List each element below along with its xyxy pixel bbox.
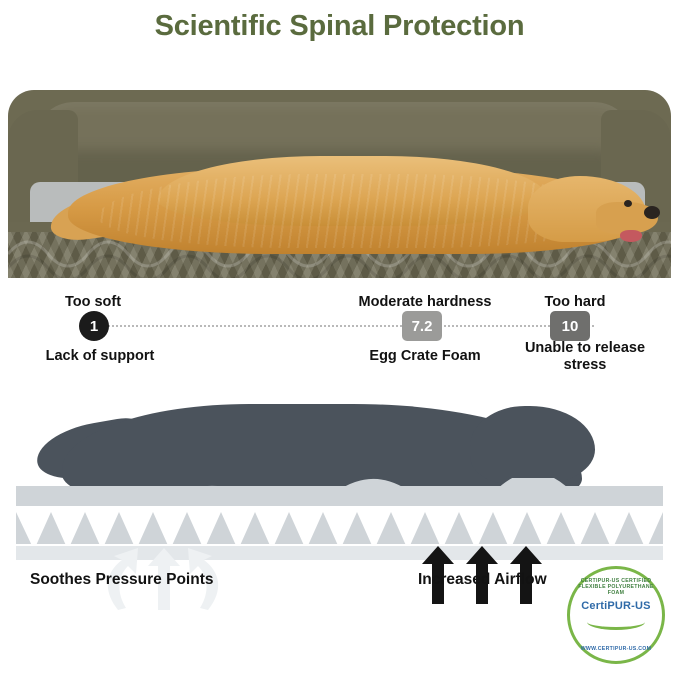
- scale-value-7-2: 7.2: [402, 311, 442, 341]
- scale-value-1: 1: [79, 311, 109, 341]
- product-photo: [0, 46, 679, 278]
- scale-line: [84, 325, 594, 327]
- certipur-us-badge: CERTIPUR-US CERTIFIED FLEXIBLE POLYURETH…: [567, 566, 665, 664]
- certipur-swoosh-icon: [587, 614, 645, 630]
- certipur-arc-bottom-text: WWW.CERTIPUR-US.COM: [570, 646, 662, 652]
- scale-label-lack-support: Lack of support: [10, 348, 190, 365]
- scale-label-egg-crate-foam: Egg Crate Foam: [330, 348, 520, 365]
- scale-value-10: 10: [550, 311, 590, 341]
- scale-label-too-soft: Too soft: [28, 294, 158, 311]
- scale-label-unable-release: Unable to release stress: [505, 340, 665, 374]
- scale-label-moderate: Moderate hardness: [330, 294, 520, 311]
- certipur-arc-top-text: CERTIPUR-US CERTIFIED FLEXIBLE POLYURETH…: [570, 578, 662, 596]
- dog-eye: [624, 200, 632, 207]
- caption-soothes-pressure-points: Soothes Pressure Points: [30, 571, 213, 589]
- certipur-name: CertiPUR-US: [581, 600, 650, 612]
- dog-nose: [644, 206, 660, 219]
- scale-label-too-hard: Too hard: [510, 294, 640, 311]
- foam-dog-head-silhouette: [470, 406, 595, 484]
- page-title: Scientific Spinal Protection: [0, 0, 679, 46]
- dog-tongue: [620, 230, 642, 242]
- foam-diagram: Soothes Pressure Points Increased Airflo…: [0, 386, 679, 676]
- hardness-scale: Too soft Lack of support Moderate hardne…: [0, 278, 679, 386]
- caption-increased-airflow: Increased Airflow: [418, 571, 547, 589]
- dog-bed: [8, 90, 671, 278]
